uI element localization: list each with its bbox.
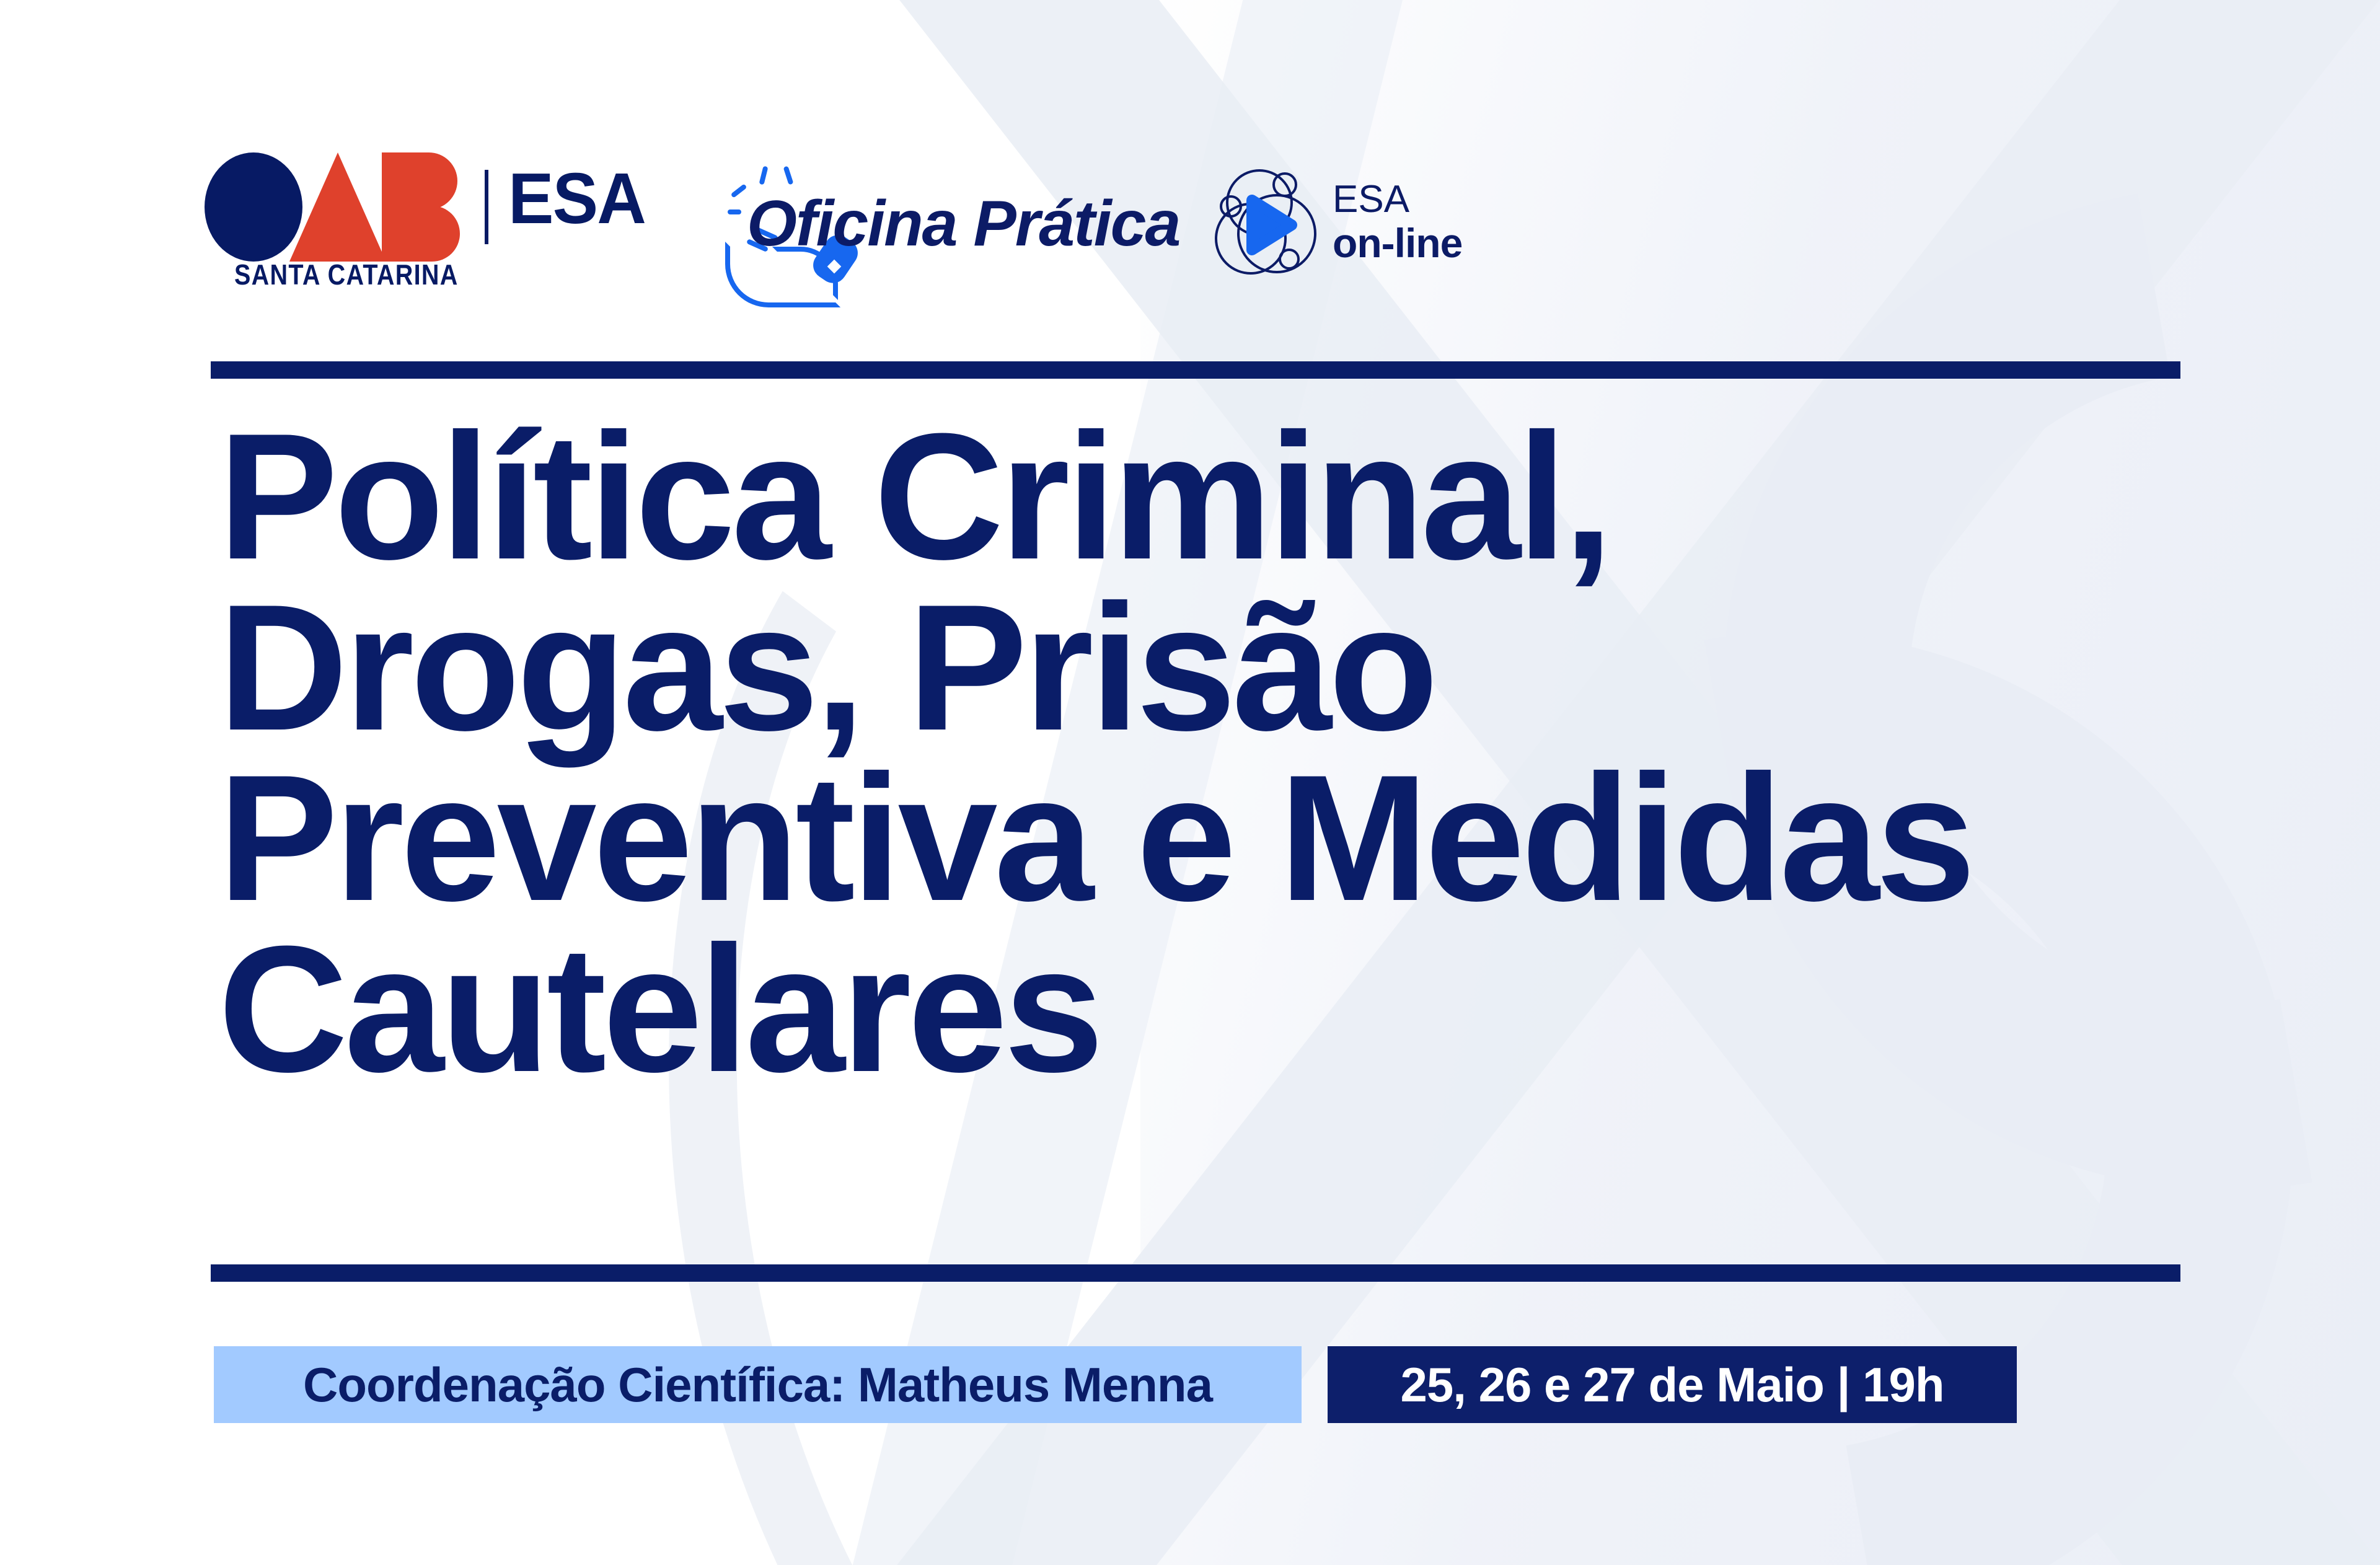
oab-esa-divider — [485, 170, 488, 244]
oab-letter-a-icon — [289, 152, 386, 262]
coordination-banner: Coordenação Científica: Matheus Menna — [214, 1346, 1302, 1423]
oficina-pratica-label: Oficina Prática — [747, 187, 1179, 261]
page-title: Política Criminal, Drogas, Prisão Preven… — [218, 412, 2201, 1095]
coordination-label: Coordenação Científica: Matheus Menna — [303, 1357, 1212, 1413]
esa-online-line2: on-line — [1333, 222, 1462, 265]
oab-santa-catarina-logo: SANTA CATARINA ESA — [205, 149, 471, 298]
oab-letter-b-icon — [382, 152, 457, 262]
date-banner: 25, 26 e 27 de Maio | 19h — [1328, 1346, 2017, 1423]
spark-icon-3 — [731, 183, 747, 198]
date-label: 25, 26 e 27 de Maio | 19h — [1401, 1357, 1944, 1413]
oab-b-top-bowl — [400, 152, 457, 209]
esa-online-logo: ESA on-line — [1215, 164, 1525, 301]
oficina-pratica-logo: Oficina Prática — [682, 155, 1165, 310]
event-poster: SANTA CATARINA ESA Oficina Prática — [0, 0, 2380, 1565]
oab-subtitle: SANTA CATARINA — [234, 258, 459, 291]
oab-b-bottom-bowl — [400, 206, 460, 262]
divider-rule-bottom — [211, 1264, 2180, 1282]
oab-letter-o-icon — [205, 152, 302, 262]
logo-row: SANTA CATARINA ESA — [205, 149, 471, 298]
esa-online-wordmark: ESA on-line — [1333, 179, 1462, 265]
oab-lettermark — [205, 149, 471, 254]
spark-icon-2 — [783, 165, 794, 185]
spark-icon-4 — [728, 209, 741, 214]
spark-icon-1 — [759, 165, 768, 185]
play-bubbles-icon — [1215, 164, 1333, 288]
esa-online-line1: ESA — [1333, 179, 1462, 219]
divider-rule-top — [211, 361, 2180, 379]
oab-esa-label: ESA — [508, 162, 645, 234]
